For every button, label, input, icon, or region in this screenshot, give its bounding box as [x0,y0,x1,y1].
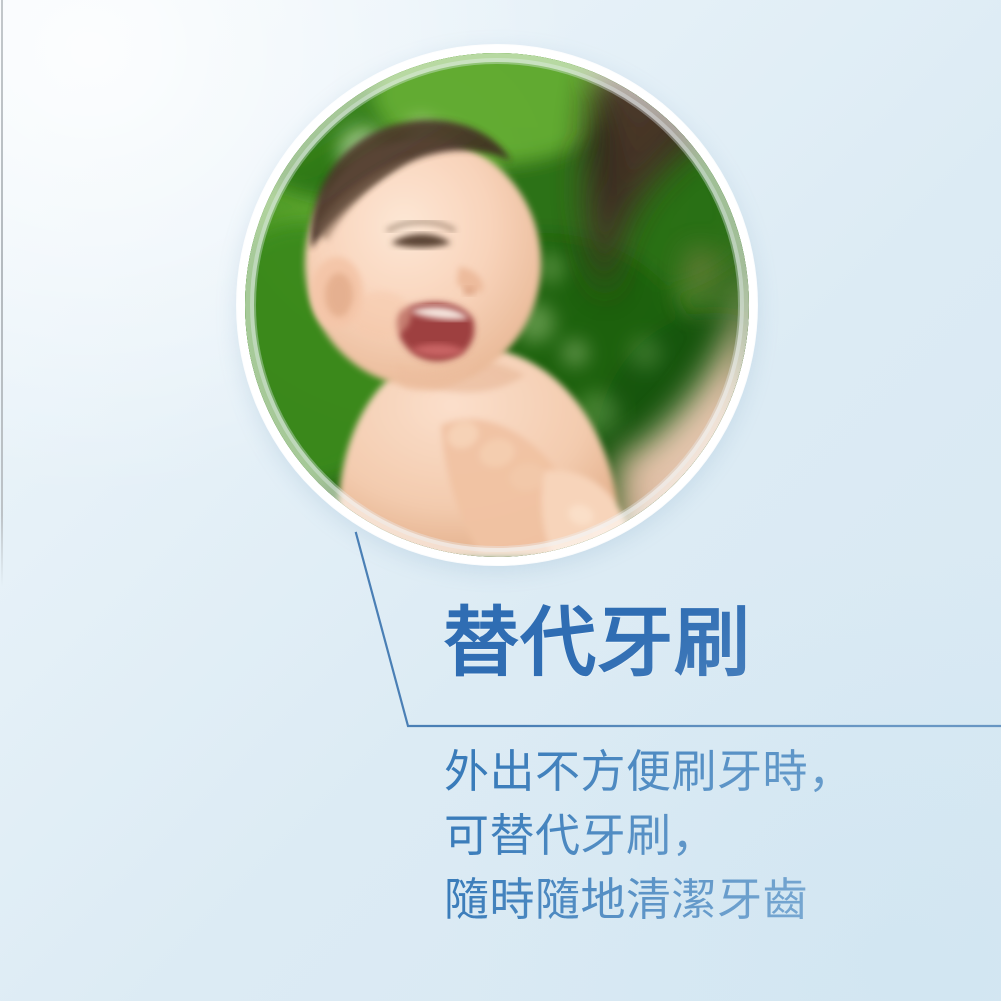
product-feature-poster: 替代牙刷 外出不方便刷牙時， 可替代牙刷， 隨時隨地清潔牙齒 [0,0,1001,1001]
feature-headline: 替代牙刷 [443,604,751,683]
feature-description: 外出不方便刷牙時， 可替代牙刷， 隨時隨地清潔牙齒 [444,740,964,932]
left-edge-seam [1,0,3,586]
description-line-3: 隨時隨地清潔牙齒 [444,868,964,932]
description-line-2: 可替代牙刷， [444,804,964,868]
description-line-1: 外出不方便刷牙時， [444,740,964,804]
hero-photo-frame [237,45,757,565]
baby-photo-illustration [245,53,749,557]
hero-photo-baby [245,53,749,557]
